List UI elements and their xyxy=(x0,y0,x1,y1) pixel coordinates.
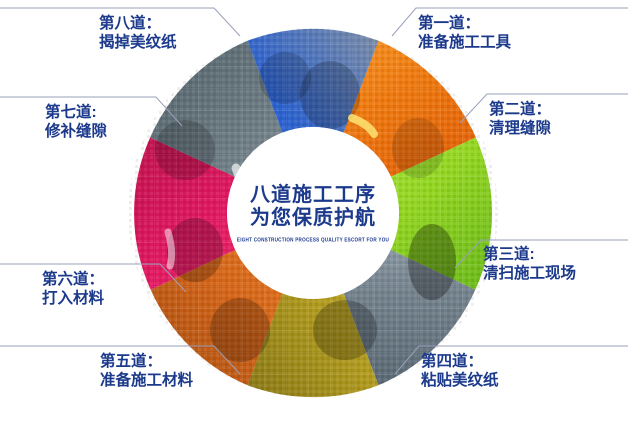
step-3-desc: 清扫施工现场 xyxy=(483,264,576,283)
step-label-2: 第二道： 清理缝隙 xyxy=(489,100,551,138)
step-label-8: 第八道： 揭掉美纹纸 xyxy=(99,14,177,52)
step-6-desc: 打入材料 xyxy=(42,289,104,308)
step-label-4: 第四道： 粘贴美纹纸 xyxy=(421,352,499,390)
step-label-1: 第一道： 准备施工工具 xyxy=(418,14,511,52)
step-7-desc: 修补缝隙 xyxy=(45,122,107,141)
step-label-6: 第六道： 打入材料 xyxy=(42,270,104,308)
process-wheel-graphic: 八道施工工序 为您保质护航 EIGHT CONSTRUCTION PROCESS… xyxy=(0,0,628,427)
donut-segments xyxy=(0,0,628,427)
step-label-3: 第三道: 清扫施工现场 xyxy=(483,245,576,283)
step-3-title: 第三道: xyxy=(483,246,535,263)
step-7-title: 第七道: xyxy=(45,104,97,121)
step-5-desc: 准备施工材料 xyxy=(100,371,193,390)
step-label-7: 第七道: 修补缝隙 xyxy=(45,103,107,141)
step-5-title: 第五道： xyxy=(100,353,162,370)
step-1-title: 第一道： xyxy=(418,15,480,32)
step-4-desc: 粘贴美纹纸 xyxy=(421,371,499,390)
step-4-title: 第四道： xyxy=(421,353,483,370)
step-8-desc: 揭掉美纹纸 xyxy=(99,33,177,52)
step-2-title: 第二道： xyxy=(489,101,551,118)
step-label-5: 第五道： 准备施工材料 xyxy=(100,352,193,390)
step-6-title: 第六道： xyxy=(42,271,104,288)
step-2-desc: 清理缝隙 xyxy=(489,119,551,138)
step-8-title: 第八道： xyxy=(99,15,161,32)
donut-chart xyxy=(0,0,628,427)
step-1-desc: 准备施工工具 xyxy=(418,33,511,52)
